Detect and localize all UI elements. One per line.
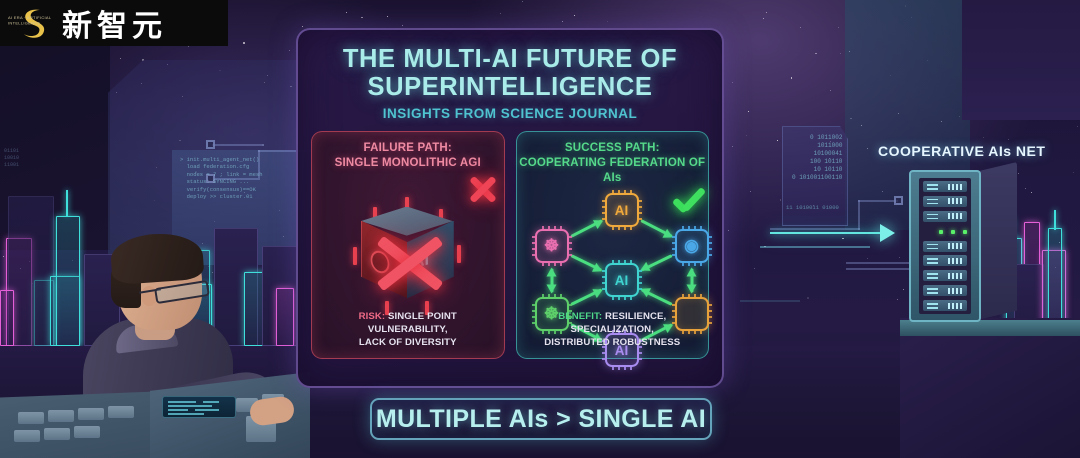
brand-name: 新智元 bbox=[62, 1, 167, 45]
main-infographic-card: THE MULTI-AI FUTURE OF SUPERINTELLIGENCE… bbox=[296, 28, 724, 388]
federation-link-arrow bbox=[570, 219, 602, 238]
star bbox=[838, 27, 839, 28]
server-unit bbox=[923, 285, 967, 296]
skyline-building bbox=[8, 196, 54, 346]
star bbox=[746, 135, 747, 136]
chip-label: ☸ bbox=[544, 236, 559, 256]
success-panel-heading: SUCCESS PATH: COOPERATING FEDERATION OF … bbox=[517, 141, 709, 185]
conclusion-banner: MULTIPLE AIs > SINGLE AI bbox=[370, 398, 712, 440]
star bbox=[188, 46, 189, 47]
federation-link-arrow bbox=[641, 254, 673, 271]
success-heading-line-1: SUCCESS PATH: bbox=[517, 141, 709, 156]
brain-chip-icon[interactable]: ☸ bbox=[535, 229, 569, 263]
star bbox=[1073, 172, 1074, 173]
accent-strip bbox=[760, 246, 870, 248]
star bbox=[899, 257, 900, 258]
skyline-antenna bbox=[66, 190, 68, 216]
star bbox=[830, 90, 831, 91]
console-key[interactable] bbox=[44, 428, 70, 440]
star bbox=[3, 256, 4, 257]
server-unit-stack bbox=[919, 178, 971, 314]
star bbox=[243, 42, 245, 44]
federation-link-arrow bbox=[690, 268, 693, 292]
federation-link-arrow bbox=[641, 288, 673, 305]
data-flow-arrow-head-icon bbox=[880, 224, 895, 242]
star bbox=[867, 258, 868, 259]
red-cross-icon bbox=[468, 175, 498, 205]
success-footer: BENEFIT: RESILIENCE, SPECIALIZATION, DIS… bbox=[524, 311, 702, 350]
star bbox=[732, 146, 733, 147]
star bbox=[361, 17, 362, 18]
swirl-logo-icon: AI ERA · ARTIFICIAL INTELLIGENCE bbox=[6, 3, 58, 43]
star bbox=[766, 12, 767, 13]
federation-link-arrow bbox=[571, 288, 603, 305]
circuit-trace bbox=[258, 150, 260, 178]
chip-label: ◉ bbox=[684, 236, 699, 256]
circuit-trace bbox=[858, 200, 860, 230]
server-unit bbox=[923, 255, 967, 266]
benefit-label: BENEFIT: bbox=[558, 311, 602, 322]
title-line-1: THE MULTI-AI FUTURE OF bbox=[298, 46, 722, 74]
star bbox=[289, 50, 290, 51]
chip-label: AI bbox=[615, 203, 629, 218]
ai-chip-icon[interactable]: AI bbox=[605, 193, 639, 227]
star bbox=[1031, 192, 1032, 193]
console-display bbox=[162, 396, 236, 418]
data-flow-arrow-icon bbox=[770, 232, 882, 234]
server-unit bbox=[923, 241, 967, 252]
risk-text-line-2: LACK OF DIVERSITY bbox=[359, 337, 457, 348]
console-key[interactable] bbox=[14, 430, 40, 442]
star bbox=[1008, 139, 1009, 140]
star bbox=[763, 18, 765, 20]
star bbox=[346, 12, 347, 13]
console-key[interactable] bbox=[74, 426, 100, 438]
brand-logo[interactable]: AI ERA · ARTIFICIAL INTELLIGENCE 新智元 bbox=[0, 0, 228, 46]
star bbox=[780, 199, 782, 201]
benefit-text-line-2: DISTRIBUTED ROBUSTNESS bbox=[544, 337, 680, 348]
server-unit bbox=[923, 196, 967, 207]
star bbox=[522, 1, 523, 2]
camera-chip-icon[interactable]: ◉ bbox=[675, 229, 709, 263]
star bbox=[903, 289, 904, 290]
star bbox=[807, 297, 809, 299]
monolithic-ai-cube-icon: AI bbox=[347, 205, 469, 317]
server-unit bbox=[923, 211, 967, 222]
star bbox=[387, 16, 388, 17]
accent-strip bbox=[740, 300, 800, 302]
title-line-2: SUPERINTELLIGENCE bbox=[298, 74, 722, 102]
success-heading-line-2: COOPERATING FEDERATION OF AIs bbox=[517, 156, 709, 185]
console-key[interactable] bbox=[78, 408, 104, 420]
conclusion-text: MULTIPLE AIs > SINGLE AI bbox=[376, 405, 706, 434]
server-rack-icon bbox=[905, 170, 1020, 330]
star bbox=[748, 111, 749, 112]
star bbox=[732, 82, 733, 83]
server-rack-front bbox=[909, 170, 981, 322]
brand-tagline: AI ERA · ARTIFICIAL INTELLIGENCE bbox=[8, 16, 56, 27]
comparison-panels: FAILURE PATH: SINGLE MONOLITHIC AGI bbox=[298, 121, 722, 359]
star bbox=[562, 21, 563, 22]
risk-label: RISK: bbox=[359, 311, 386, 322]
failure-panel-heading: FAILURE PATH: SINGLE MONOLITHIC AGI bbox=[335, 141, 481, 170]
federation-link-arrow bbox=[571, 254, 603, 271]
circuit-trace bbox=[214, 178, 260, 180]
cooperative-net-label: COOPERATIVE AIs NET bbox=[878, 143, 1045, 159]
star bbox=[1077, 126, 1078, 127]
failure-heading-line-1: FAILURE PATH: bbox=[335, 141, 481, 156]
cube-spike bbox=[353, 247, 357, 265]
star bbox=[840, 53, 841, 54]
console-key[interactable] bbox=[108, 406, 134, 418]
circuit-trace bbox=[212, 144, 264, 146]
star bbox=[500, 13, 502, 15]
skyline-building bbox=[0, 290, 14, 346]
circuit-node bbox=[894, 196, 903, 205]
star bbox=[842, 238, 843, 239]
skyline-antenna bbox=[1054, 210, 1056, 230]
star bbox=[120, 58, 121, 59]
server-rack-side bbox=[977, 162, 1017, 320]
star bbox=[574, 15, 575, 16]
star bbox=[897, 299, 899, 301]
ai-chip-icon[interactable]: AI bbox=[605, 263, 639, 297]
star bbox=[983, 137, 984, 138]
ground-plinth bbox=[900, 318, 1080, 458]
failure-path-panel: FAILURE PATH: SINGLE MONOLITHIC AGI bbox=[311, 131, 505, 359]
circuit-trace bbox=[858, 200, 898, 202]
failure-footer: RISK: SINGLE POINT VULNERABILITY, LACK O… bbox=[319, 311, 497, 350]
star bbox=[754, 268, 755, 269]
server-vent bbox=[1057, 186, 1079, 188]
bg-panel-right bbox=[962, 0, 1080, 120]
server-unit bbox=[923, 270, 967, 281]
circuit-trace bbox=[770, 228, 860, 230]
skyline-building bbox=[276, 288, 294, 346]
server-unit bbox=[923, 300, 967, 311]
star bbox=[750, 191, 751, 192]
circuit-node bbox=[206, 174, 215, 183]
star bbox=[728, 230, 729, 231]
cube-spike bbox=[457, 245, 461, 263]
circuit-node bbox=[206, 140, 215, 149]
infographic-canvas: 01101 10010 11001 > init.multi_agent_net… bbox=[0, 0, 1080, 458]
bg-panel-binary bbox=[782, 126, 848, 226]
console-key[interactable] bbox=[18, 412, 44, 424]
console-key[interactable] bbox=[48, 410, 74, 422]
page-subtitle: INSIGHTS FROM SCIENCE JOURNAL bbox=[298, 106, 722, 121]
federation-link-arrow bbox=[550, 268, 553, 292]
success-path-panel: SUCCESS PATH: COOPERATING FEDERATION OF … bbox=[516, 131, 710, 359]
star bbox=[402, 25, 403, 26]
star bbox=[1025, 188, 1026, 189]
star bbox=[800, 27, 801, 28]
failure-heading-line-2: SINGLE MONOLITHIC AGI bbox=[335, 156, 481, 171]
star bbox=[777, 140, 778, 141]
cube-cross-overlay-icon bbox=[373, 227, 447, 301]
star bbox=[815, 53, 817, 55]
star bbox=[791, 77, 793, 79]
server-status-leds bbox=[923, 226, 967, 237]
chip-label: AI bbox=[615, 273, 629, 288]
federation-link-arrow bbox=[640, 219, 672, 238]
server-unit bbox=[923, 181, 967, 192]
page-title: THE MULTI-AI FUTURE OF SUPERINTELLIGENCE bbox=[298, 46, 722, 101]
